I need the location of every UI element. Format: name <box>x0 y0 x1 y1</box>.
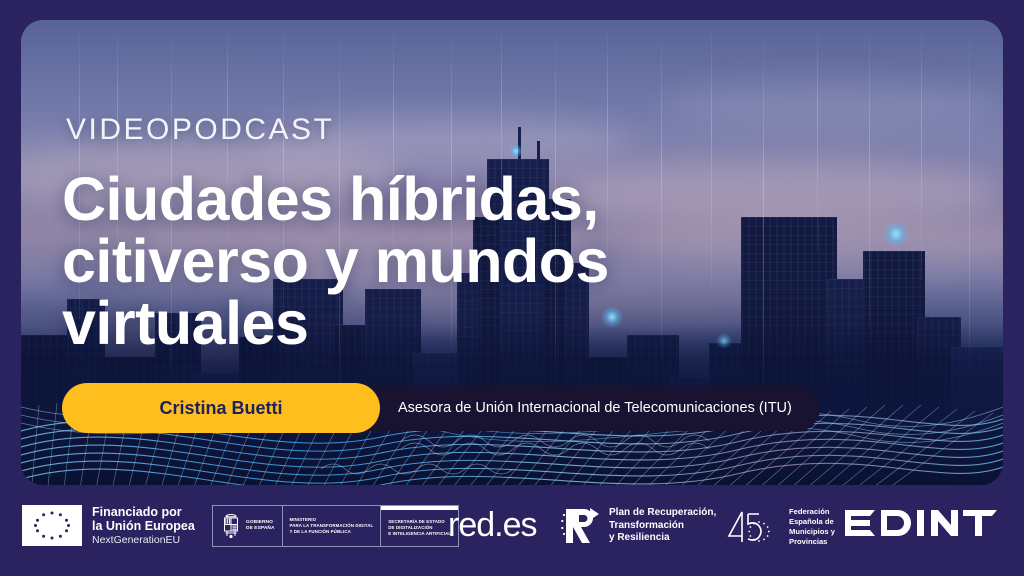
prtr-line-2: Transformación <box>609 520 716 533</box>
femp-line-1: Federación <box>789 507 835 517</box>
prtr-text: Plan de Recuperación, Transformación y R… <box>609 507 716 545</box>
eu-line-2: la Unión Europea <box>92 519 195 533</box>
gob-cell-secretaria: SECRETARÍA DE ESTADO DE DIGITALIZACIÓN E… <box>381 506 458 546</box>
eu-stars-svg <box>22 505 82 546</box>
logo-edint <box>845 504 997 549</box>
gob-cell-ministerio: MINISTERIO PARA LA TRANSFORMACIÓN DIGITA… <box>283 506 382 546</box>
eu-line-3: NextGenerationEU <box>92 535 195 547</box>
logo-femp: Federación Española de Municipios y Prov… <box>726 506 835 548</box>
logo-plan-recuperacion: Plan de Recuperación, Transformación y R… <box>560 506 716 546</box>
node-glow <box>883 221 909 247</box>
sec-line-3: E INTELIGENCIA ARTIFICIAL <box>388 531 451 537</box>
min-line-3: Y DE LA FUNCIÓN PÚBLICA <box>290 529 374 535</box>
eu-logo-text: Financiado por la Unión Europea NextGene… <box>92 505 195 547</box>
hero-image-panel: VIDEOPODCAST Ciudades híbridas, citivers… <box>21 20 1003 485</box>
femp-45-stars-icon <box>726 506 784 548</box>
eu-flag-stars-icon <box>22 505 82 546</box>
gob-cell-gobierno: GOBIERNO DE ESPAÑA <box>213 506 283 546</box>
femp-line-4: Provincias <box>789 537 835 547</box>
node-glow <box>509 144 523 158</box>
speaker-role-badge: Asesora de Unión Internacional de Teleco… <box>338 385 820 431</box>
edint-wordmark-icon <box>845 504 997 544</box>
kicker-videopodcast: VIDEOPODCAST <box>66 113 334 147</box>
title-line-1: Ciudades híbridas, <box>62 168 782 230</box>
title-line-2: citiverso y mundos <box>62 230 782 292</box>
spain-coat-of-arms-icon <box>220 512 242 540</box>
speaker-bar: Cristina Buetti Asesora de Unión Interna… <box>62 383 820 433</box>
femp-line-2: Española de <box>789 517 835 527</box>
page-title: Ciudades híbridas, citiverso y mundos vi… <box>62 168 782 355</box>
gob-line-2: DE ESPAÑA <box>246 526 275 532</box>
prtr-line-1: Plan de Recuperación, <box>609 507 716 520</box>
eu-line-1: Financiado por <box>92 505 195 519</box>
femp-text: Federación Española de Municipios y Prov… <box>789 507 835 547</box>
prtr-line-3: y Resiliencia <box>609 532 716 545</box>
title-line-3: virtuales <box>62 292 782 354</box>
prtr-r-mark-icon <box>560 506 602 546</box>
banner-canvas: VIDEOPODCAST Ciudades híbridas, citivers… <box>0 0 1024 576</box>
logo-gobierno-de-espana: GOBIERNO DE ESPAÑA MINISTERIO PARA LA TR… <box>212 505 459 547</box>
speaker-name-badge[interactable]: Cristina Buetti <box>62 383 380 433</box>
logo-red-es: red.es <box>448 506 537 545</box>
logo-european-union: Financiado por la Unión Europea NextGene… <box>22 505 195 547</box>
femp-line-3: Municipios y <box>789 527 835 537</box>
